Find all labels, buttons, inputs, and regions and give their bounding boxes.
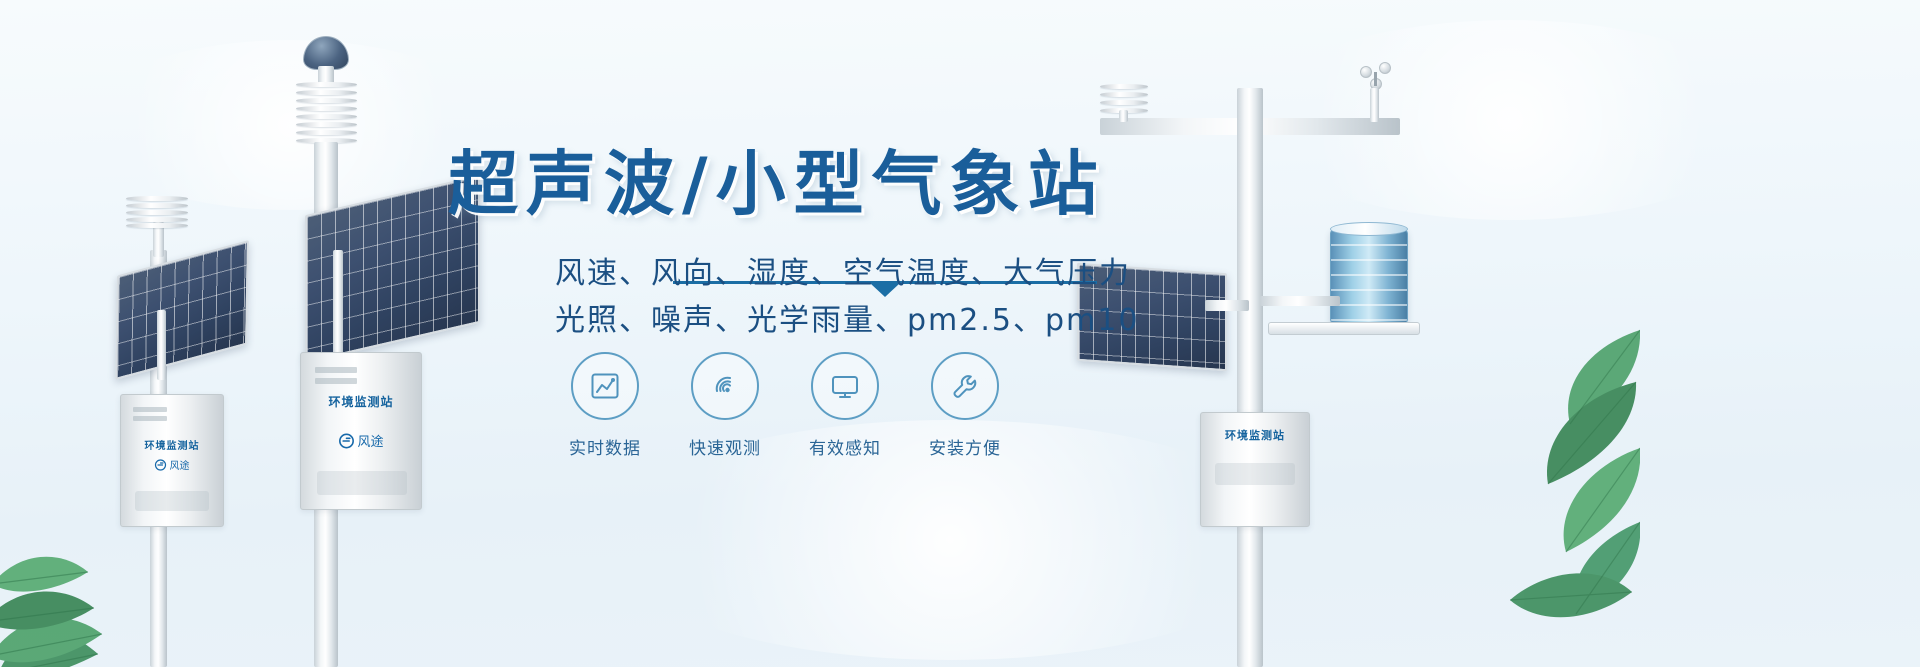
feature-label: 实时数据 <box>569 434 641 459</box>
feature-item-easy-installation[interactable]: 安装方便 <box>905 352 1025 459</box>
feature-label: 快速观测 <box>689 434 761 459</box>
wrench-icon <box>931 352 999 420</box>
line-chart-icon <box>571 352 639 420</box>
product-banner: 环境监测站 风途 <box>0 0 1920 667</box>
feature-label: 有效感知 <box>809 434 881 459</box>
feature-item-realtime-data[interactable]: 实时数据 <box>545 352 665 459</box>
monitor-icon <box>811 352 879 420</box>
banner-copy: 超声波/小型气象站 风速、风向、湿度、空气温度、大气压力 光照、噪声、光学雨量、… <box>0 0 1920 667</box>
feature-label: 安装方便 <box>929 434 1001 459</box>
feature-list: 实时数据 快速观测 <box>545 352 1025 459</box>
feature-item-effective-sensing[interactable]: 有效感知 <box>785 352 905 459</box>
page-title: 超声波/小型气象站 <box>448 128 1106 229</box>
feature-item-fast-observation[interactable]: 快速观测 <box>665 352 785 459</box>
signal-wave-icon <box>691 352 759 420</box>
subtitle-line-2: 光照、噪声、光学雨量、pm2.5、pm10 <box>555 295 1139 339</box>
subtitle-line-1: 风速、风向、湿度、空气温度、大气压力 <box>555 248 1131 292</box>
